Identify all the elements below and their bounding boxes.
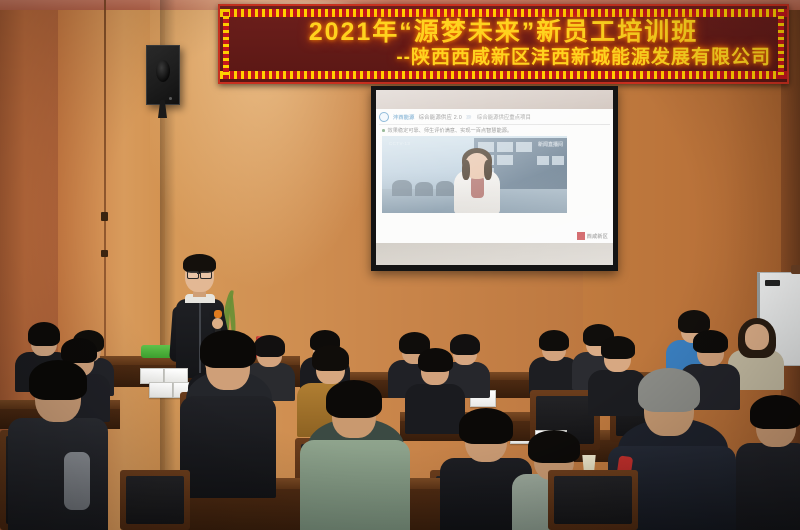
slide-video-still: CCTV-13 新闻直播间 <box>382 136 567 213</box>
audience-person-front <box>300 380 410 530</box>
slide-logo-text: 沣西能源 <box>393 114 415 121</box>
slide-bullet-text: 效果稳定可靠、师生评价满意、实现一百点智慧能源。 <box>388 127 513 134</box>
bullet-dot-icon <box>382 129 385 132</box>
chair-cushion <box>554 476 632 524</box>
banner-border-right <box>778 9 784 79</box>
banner-border-bottom <box>220 71 787 79</box>
person-hair <box>200 330 256 368</box>
news-anchor-hair-side <box>484 160 492 180</box>
banner-title-line: 2021年“源梦未来”新员工培训班 <box>232 18 775 46</box>
whiteboard-marker-icon <box>765 280 780 286</box>
person-hair <box>601 336 635 359</box>
microphone-head-icon <box>214 310 222 318</box>
person-body-puffer <box>8 418 108 530</box>
person-hair <box>528 430 580 463</box>
projection-screen: 沣西能源 综合能源供应 2.0 》》》 综合能源供应重点项目 效果稳定可靠、师生… <box>371 86 618 271</box>
studio-shape <box>415 182 433 196</box>
person-hair <box>312 345 349 371</box>
person-hair <box>418 348 453 372</box>
led-banner: 2021年“源梦未来”新员工培训班 --陕西西咸新区沣西新城能源发展有限公司 <box>218 4 789 84</box>
presentation-slide: 沣西能源 综合能源供应 2.0 》》》 综合能源供应重点项目 效果稳定可靠、师生… <box>376 109 613 243</box>
monitor-tile <box>552 156 564 165</box>
audience-person-front <box>736 395 800 530</box>
news-anchor-hair-side <box>462 160 470 180</box>
person-body <box>736 443 800 530</box>
person-hair <box>693 330 728 353</box>
presenter-hand <box>212 318 223 329</box>
whiteboard-clip <box>791 265 800 274</box>
monitor-tile <box>516 142 532 152</box>
company-logo-icon <box>379 112 389 122</box>
slide-divider <box>379 124 610 125</box>
monitor-tile <box>537 156 549 165</box>
conference-room-photo: 2021年“源梦未来”新员工培训班 --陕西西咸新区沣西新城能源发展有限公司 沣… <box>0 0 800 530</box>
studio-shape <box>436 181 454 196</box>
wall-fixture-dot <box>101 212 108 221</box>
slide-bullet-item: 效果稳定可靠、师生评价满意、实现一百点智慧能源。 <box>382 127 609 134</box>
slide-title: 综合能源供应 2.0 <box>419 113 462 121</box>
glasses-bridge <box>197 273 200 274</box>
slide-footer-text: 西咸新区 <box>587 233 608 240</box>
name-card <box>149 382 173 398</box>
screen-bottom-band <box>376 243 613 265</box>
chair-cushion <box>126 476 184 524</box>
person-sleeve-grey <box>64 452 90 510</box>
banner-subtitle-line: --陕西西咸新区沣西新城能源发展有限公司 <box>232 46 775 70</box>
person-hair <box>459 408 513 444</box>
person-hair <box>750 395 800 429</box>
person-head <box>745 324 769 350</box>
audience-person-front <box>180 330 276 490</box>
slide-subtitle: 综合能源供应重点项目 <box>477 113 531 121</box>
banner-border-left <box>223 9 229 79</box>
glasses-icon <box>200 271 212 279</box>
chevron-right-icon: 》》》 <box>466 114 473 121</box>
speaker-led <box>169 97 172 100</box>
news-anchor-top <box>471 176 484 198</box>
person-body-green <box>300 440 410 530</box>
person-body <box>180 396 276 498</box>
wall-speaker-icon <box>146 45 180 105</box>
monitor-tile <box>497 155 513 165</box>
banner-border-top <box>220 9 787 17</box>
slide-footer-logo: 西咸新区 <box>577 232 608 240</box>
person-hair <box>326 380 382 418</box>
person-hair-grey <box>638 368 700 412</box>
xixian-logo-icon <box>577 232 585 240</box>
wall-fixture-dot <box>101 250 108 257</box>
person-hair <box>29 360 87 400</box>
audience-person-front <box>8 360 108 530</box>
banner-text-area: 2021年“源梦未来”新员工培训班 --陕西西咸新区沣西新城能源发展有限公司 <box>232 17 775 71</box>
chair <box>548 470 638 530</box>
video-channel-label: CCTV-13 <box>389 141 410 146</box>
chair <box>120 470 190 530</box>
speaker-cone <box>156 60 170 82</box>
monitor-tile <box>497 142 513 152</box>
slide-header: 沣西能源 综合能源供应 2.0 》》》 综合能源供应重点项目 <box>379 111 610 123</box>
wall-seam <box>104 0 106 360</box>
studio-shape <box>392 180 412 196</box>
video-program-logo: 新闻直播间 <box>538 141 563 148</box>
screen-surface: 沣西能源 综合能源供应 2.0 》》》 综合能源供应重点项目 效果稳定可靠、师生… <box>376 90 613 265</box>
screen-top-band <box>376 90 613 109</box>
person-hair <box>539 330 569 351</box>
